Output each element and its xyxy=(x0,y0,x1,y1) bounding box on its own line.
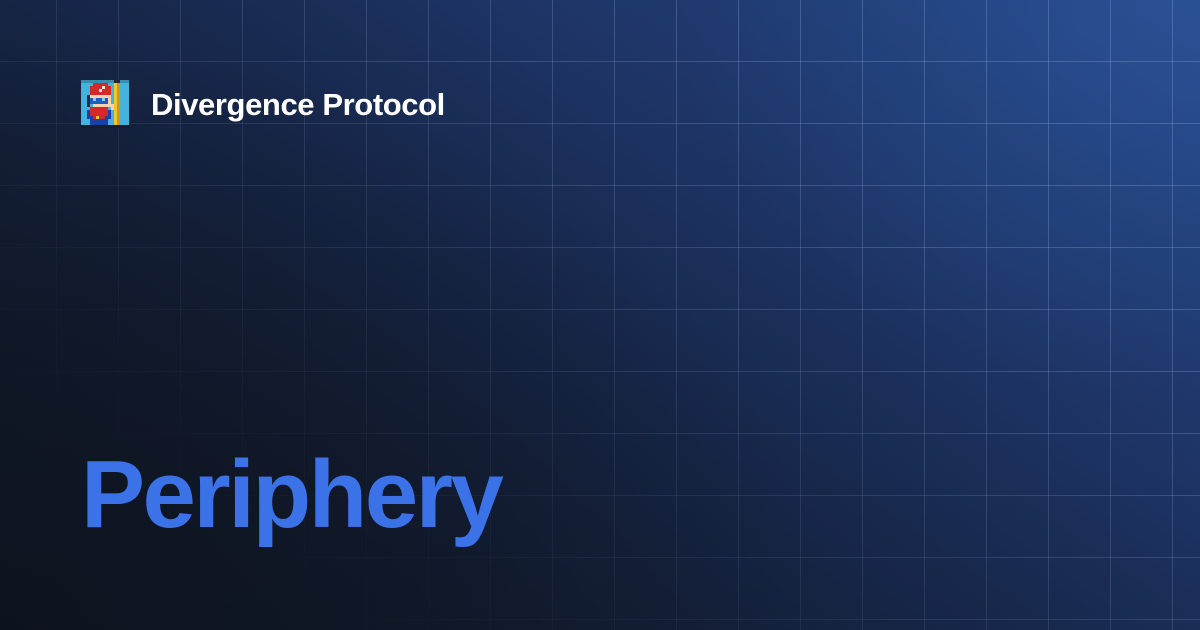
brand-title: Divergence Protocol xyxy=(151,89,445,120)
page-title: Periphery xyxy=(81,447,501,543)
pixel-avatar-icon xyxy=(81,80,129,128)
brand-header: Divergence Protocol xyxy=(81,80,445,128)
social-preview-card: Divergence Protocol Periphery xyxy=(0,0,1200,630)
